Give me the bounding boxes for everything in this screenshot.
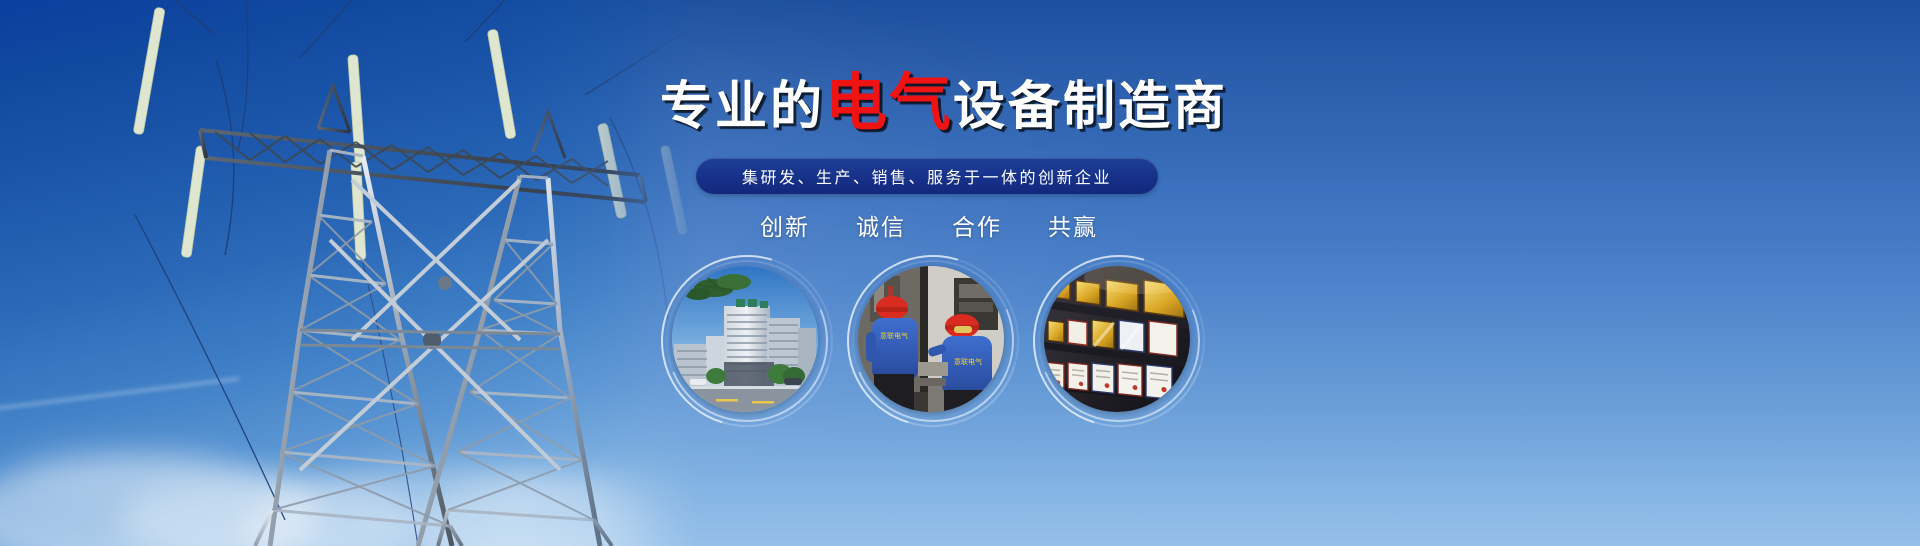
circle-photo-row: 意联电气 意联电气 [660,258,1220,438]
page-title: 专业的电气设备制造商 [660,72,1200,134]
svg-text:意联电气: 意联电气 [954,357,982,366]
certificate-wall-photo [1044,266,1190,412]
keyword-item: 共赢 [1048,208,1098,242]
transmission-tower-photo [0,0,700,546]
headline-highlight: 电气 [825,66,953,139]
keyword-item: 诚信 [856,208,906,242]
headline-part2: 设备制造商 [953,77,1228,137]
headline-part1: 专业的 [660,77,825,137]
circle-photo-workers: 意联电气 意联电气 [858,266,1004,412]
workers-installation-photo: 意联电气 意联电气 [858,266,1004,412]
keyword-item: 合作 [952,208,1002,242]
office-building-photo [672,266,818,412]
svg-text:意联电气: 意联电气 [880,331,908,340]
circle-photo-certificates [1044,266,1190,412]
keyword-row: 创新 诚信 合作 共赢 [696,208,1162,242]
pylon-illustration [0,0,700,546]
keyword-item: 创新 [760,208,810,242]
promo-banner: 专业的电气设备制造商 集研发、生产、销售、服务于一体的创新企业 创新 诚信 合作… [0,0,1920,546]
circle-photo-office-building [672,266,818,412]
subtitle-pill: 集研发、生产、销售、服务于一体的创新企业 [696,158,1158,194]
subtitle-text: 集研发、生产、销售、服务于一体的创新企业 [742,164,1112,188]
